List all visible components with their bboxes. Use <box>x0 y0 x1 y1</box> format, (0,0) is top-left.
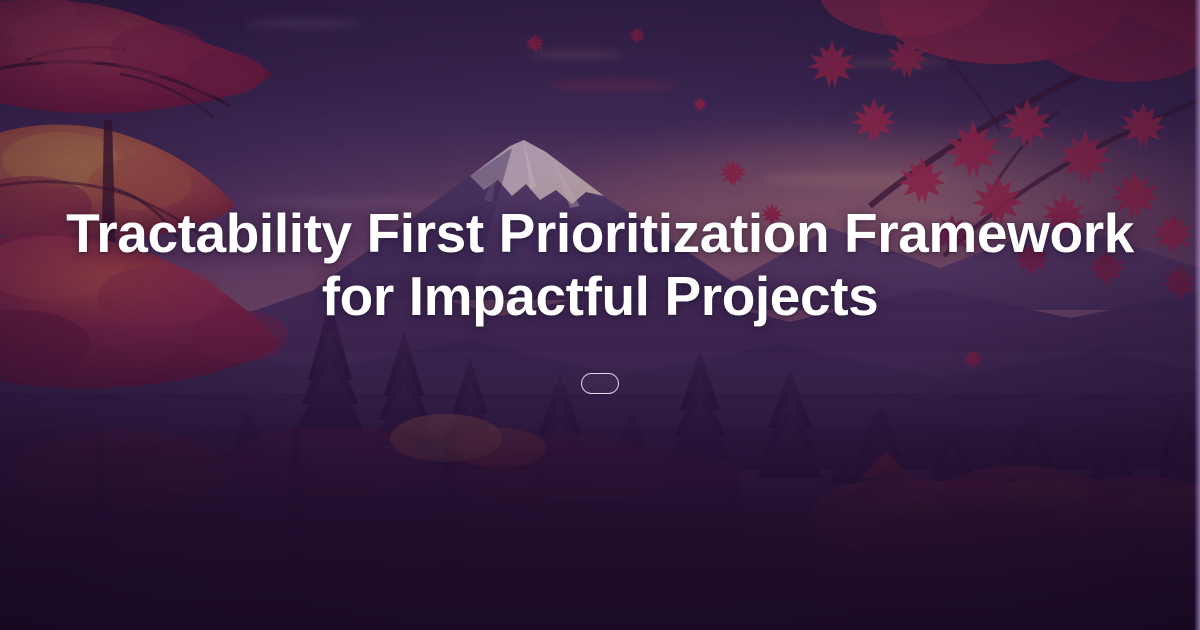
page-title: Tractability First Prioritization Framew… <box>46 202 1154 327</box>
hero-content: Tractability First Prioritization Framew… <box>0 0 1200 630</box>
badge-container <box>581 373 619 394</box>
hero-banner: Tractability First Prioritization Framew… <box>0 0 1200 630</box>
status-badge[interactable] <box>581 373 619 394</box>
